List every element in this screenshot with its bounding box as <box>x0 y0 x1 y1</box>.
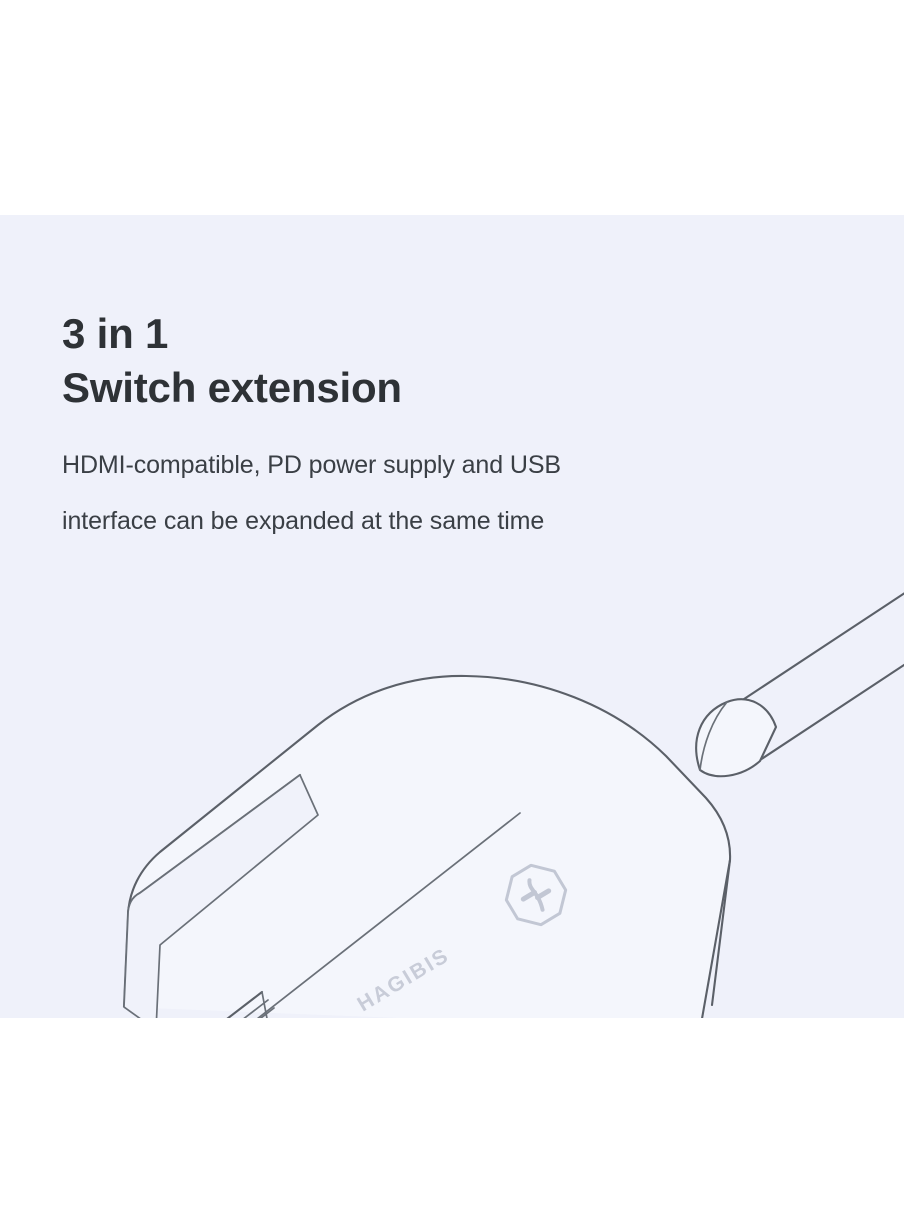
usb-a-port <box>152 992 274 1018</box>
hub-port-face <box>124 775 318 1018</box>
cable-strain-relief <box>696 699 776 776</box>
brand-logo <box>498 857 575 934</box>
headline-line-1: 3 in 1 <box>62 307 822 361</box>
hub-body <box>124 676 730 1018</box>
promo-page: HAGIBIS 3 in 1 Switch extension HDMI-com… <box>0 0 904 1232</box>
copy-block: 3 in 1 Switch extension HDMI-compatible,… <box>62 307 822 549</box>
subcopy-line-2: interface can be expanded at the same ti… <box>62 493 822 549</box>
usb-c-cable <box>735 540 904 760</box>
subcopy-line-1: HDMI-compatible, PD power supply and USB <box>62 415 822 493</box>
brand-wordmark: HAGIBIS <box>354 944 454 1017</box>
product-promo-panel: HAGIBIS 3 in 1 Switch extension HDMI-com… <box>0 215 904 1018</box>
headline-line-2: Switch extension <box>62 361 822 415</box>
